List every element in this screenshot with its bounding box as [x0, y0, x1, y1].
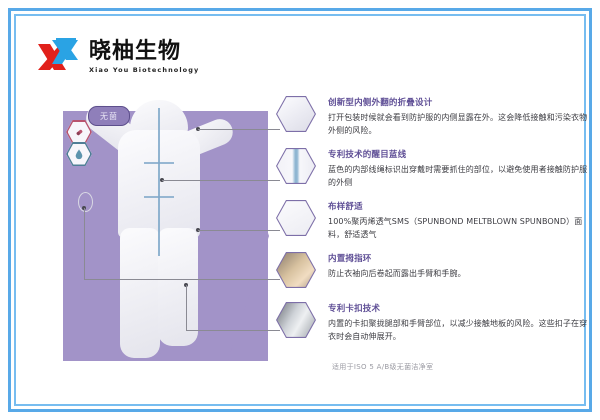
leader-line-3	[198, 230, 280, 231]
brand-logo: 晓柚生物 Xiao You Biotechnology	[36, 34, 199, 80]
pill-glyph	[74, 127, 85, 138]
brand-text: 晓柚生物 Xiao You Biotechnology	[89, 40, 199, 73]
fabric-thumb	[276, 200, 316, 236]
leader-line-5	[186, 330, 280, 331]
coverall-right-leg	[158, 228, 198, 346]
callout-4-title: 内置拇指环	[328, 254, 592, 265]
callout-2-title: 专利技术的醒目蓝线	[328, 150, 592, 161]
leader-line-5-vertical	[186, 285, 187, 330]
folded-inside-out-thumb	[276, 96, 316, 132]
coverall-blue-zipper-line	[158, 108, 160, 256]
snap-buckle-thumb	[276, 302, 316, 338]
droplet-glyph	[74, 149, 84, 160]
leader-line-4-vertical	[84, 208, 85, 279]
callout-3-title: 布样舒适	[328, 202, 592, 213]
status-badge-sterile: 无菌	[88, 106, 130, 126]
x-mark-logo-icon	[36, 38, 80, 76]
footer-note: 适用于ISO 5 A/B级无菌洁净室	[332, 362, 433, 372]
callout-1-body: 打开包装时候就会看到防护服的内侧显露在外。这会降低接触和污染衣物外侧的风险。	[328, 112, 592, 137]
callout-5-body: 内置的卡扣聚拢腿部和手臂部位，以减少接触地板的风险。这些扣子在穿衣时会自动伸展开…	[328, 318, 592, 343]
leader-line-1	[198, 129, 280, 130]
coverall-illustration	[82, 100, 237, 368]
coverall-blue-tie-lower	[144, 196, 174, 198]
leader-line-2	[162, 180, 280, 181]
callout-3-body: 100%聚丙烯透气SMS（SPUNBOND MELTBLOWN SPUNBOND…	[328, 216, 592, 241]
callout-1-title: 创新型内侧外翻的折叠设计	[328, 98, 592, 109]
callout-5-title: 专利卡扣技术	[328, 304, 592, 315]
coverall-blue-tie-upper	[144, 162, 174, 164]
callout-2-body: 蓝色的内部线绳标识出穿戴时需要抓住的部位，以避免使用者接触防护服的外侧	[328, 164, 592, 189]
blue-line-thumb	[276, 148, 316, 184]
brand-name-en: Xiao You Biotechnology	[89, 66, 199, 74]
thumb-loop-thumb	[276, 252, 316, 288]
brand-name-cn: 晓柚生物	[89, 40, 199, 63]
callout-4-body: 防止衣袖向后卷起而露出手臂和手腕。	[328, 268, 592, 280]
leader-line-4	[84, 279, 280, 280]
coverall-left-leg	[120, 228, 160, 358]
poster-page: 晓柚生物 Xiao You Biotechnology 无菌	[0, 0, 600, 420]
